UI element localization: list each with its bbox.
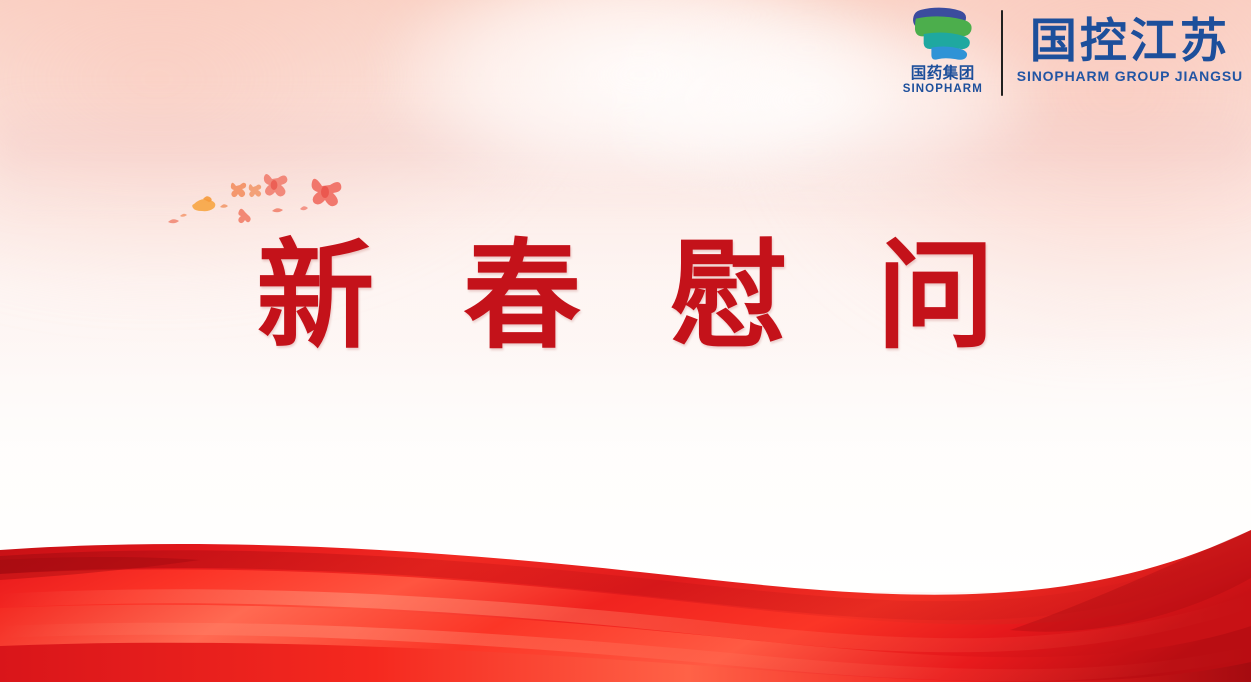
red-silk-ribbon xyxy=(0,522,1251,682)
bird-icon xyxy=(231,183,246,197)
logo-divider xyxy=(1001,10,1003,96)
bird-icon xyxy=(238,209,250,223)
bird-icon xyxy=(300,206,308,210)
bird-icon xyxy=(220,204,228,208)
sinopharm-swoosh-icon xyxy=(904,6,982,64)
page-title: 新 春 慰 问 xyxy=(0,228,1251,367)
jiangsu-cn-label: 国控江苏 xyxy=(1030,17,1230,64)
sinopharm-cn-label: 国药集团 xyxy=(911,66,975,82)
sinopharm-logo: 国药集团 SINOPHARM xyxy=(895,6,991,99)
jiangsu-logo: 国控江苏 SINOPHARM GROUP JIANGSU xyxy=(1017,17,1243,89)
logo-lockup: 国药集团 SINOPHARM 国控江苏 SINOPHARM GROUP JIAN… xyxy=(895,6,1243,99)
bird-icon xyxy=(180,214,187,217)
bird-icon xyxy=(168,219,179,223)
poster-canvas: 国药集团 SINOPHARM 国控江苏 SINOPHARM GROUP JIAN… xyxy=(0,0,1251,682)
bird-icon xyxy=(192,196,215,211)
bird-icon xyxy=(249,184,261,197)
bird-icon xyxy=(312,179,342,206)
jiangsu-en-label: SINOPHARM GROUP JIANGSU xyxy=(1017,68,1243,85)
sinopharm-en-label: SINOPHARM xyxy=(903,83,983,97)
bird-icon xyxy=(264,174,288,197)
bird-icon xyxy=(272,208,283,212)
